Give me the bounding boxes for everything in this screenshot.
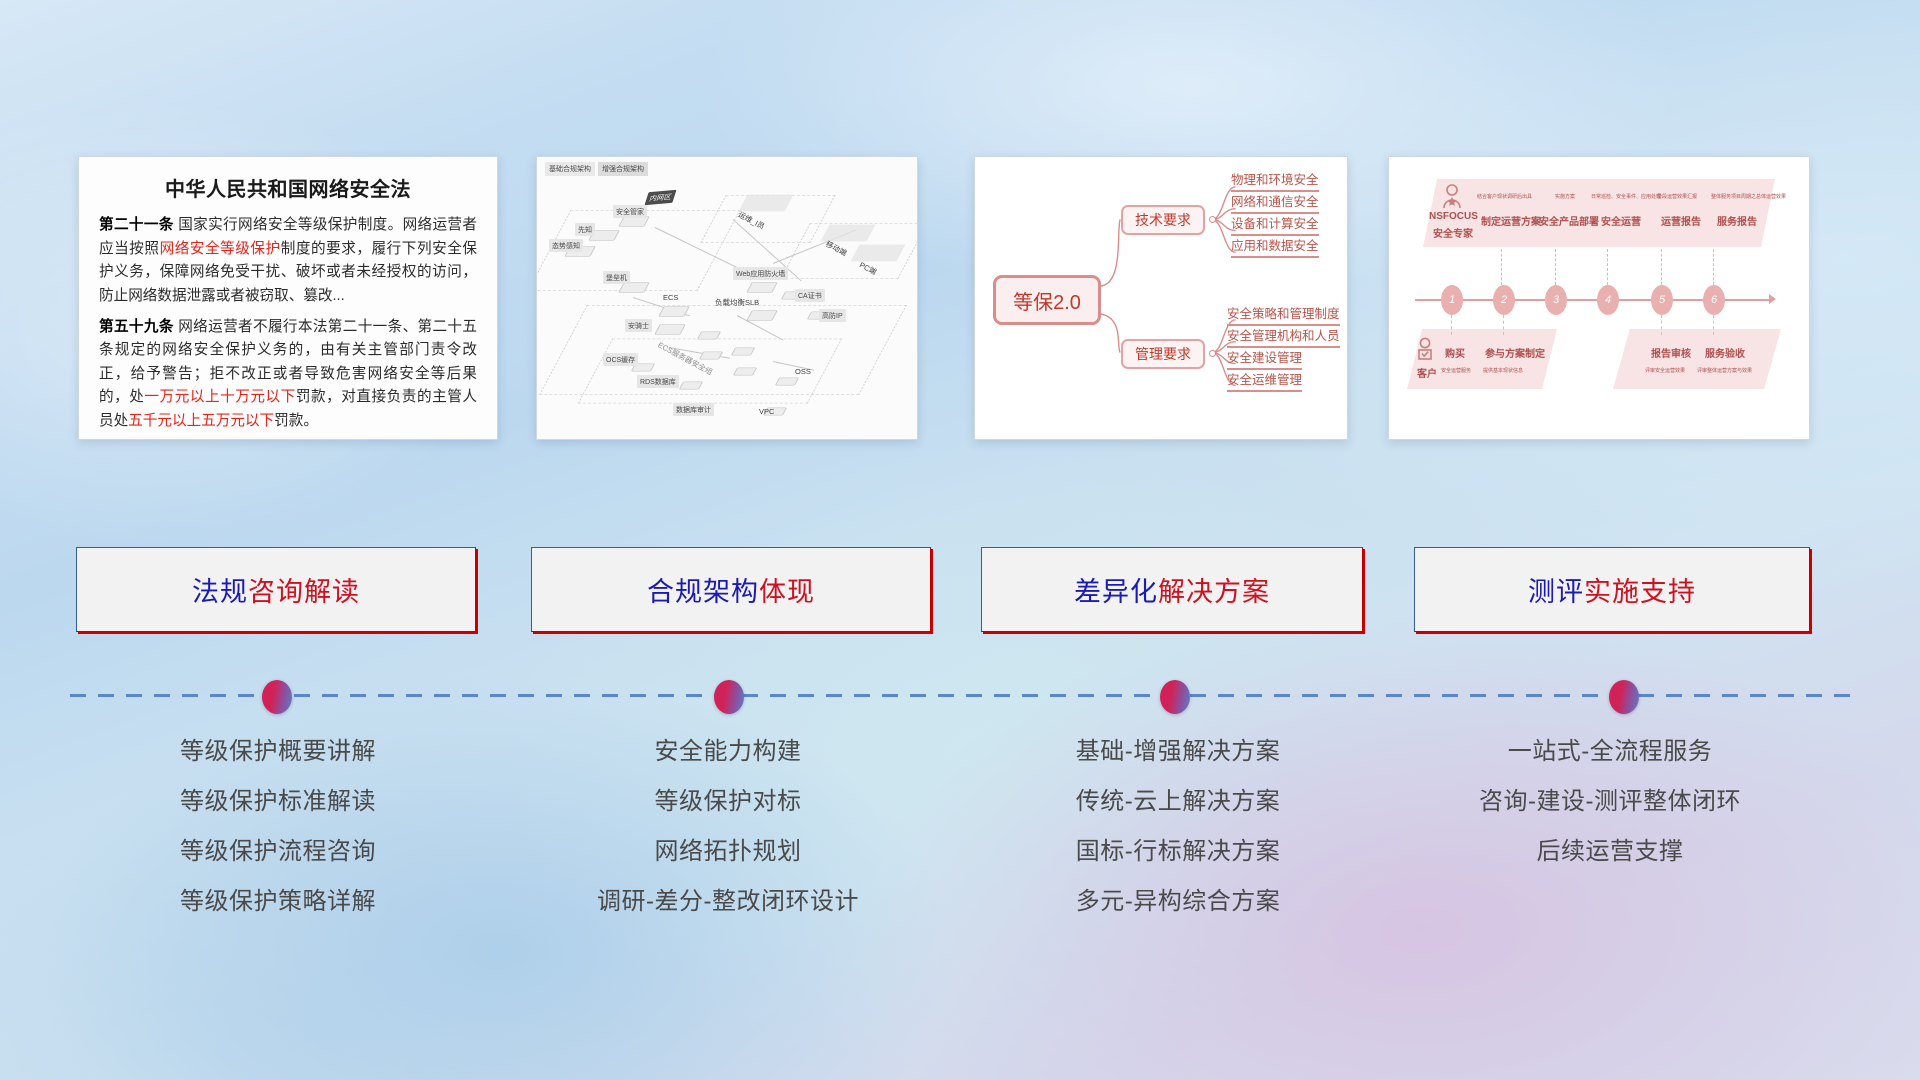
list-item: 后续运营支撑 (1410, 840, 1810, 864)
detail-lists-row: 等级保护概要讲解 等级保护标准解读 等级保护流程咨询 等级保护策略详解 安全能力… (0, 0, 1920, 1080)
list-item: 等级保护概要讲解 (78, 740, 478, 764)
list-item: 网络拓扑规划 (528, 840, 928, 864)
list-item: 一站式-全流程服务 (1410, 740, 1810, 764)
slide-stage: 中华人民共和国网络安全法 第二十一条 国家实行网络安全等级保护制度。网络运营者应… (0, 0, 1920, 1080)
list-item: 国标-行标解决方案 (978, 840, 1378, 864)
list-item: 等级保护策略详解 (78, 890, 478, 914)
list-item: 多元-异构综合方案 (978, 890, 1378, 914)
list-item: 传统-云上解决方案 (978, 790, 1378, 814)
detail-list-compliance-architecture: 安全能力构建 等级保护对标 网络拓扑规划 调研-差分-整改闭环设计 (528, 740, 928, 940)
list-item: 等级保护流程咨询 (78, 840, 478, 864)
list-item: 基础-增强解决方案 (978, 740, 1378, 764)
detail-list-differentiated-solution: 基础-增强解决方案 传统-云上解决方案 国标-行标解决方案 多元-异构综合方案 (978, 740, 1378, 940)
list-item: 安全能力构建 (528, 740, 928, 764)
list-item: 等级保护对标 (528, 790, 928, 814)
list-item: 调研-差分-整改闭环设计 (528, 890, 928, 914)
detail-list-assessment-support: 一站式-全流程服务 咨询-建设-测评整体闭环 后续运营支撑 (1410, 740, 1810, 890)
list-item: 咨询-建设-测评整体闭环 (1410, 790, 1810, 814)
list-item: 等级保护标准解读 (78, 790, 478, 814)
detail-list-regulation-consulting: 等级保护概要讲解 等级保护标准解读 等级保护流程咨询 等级保护策略详解 (78, 740, 478, 940)
